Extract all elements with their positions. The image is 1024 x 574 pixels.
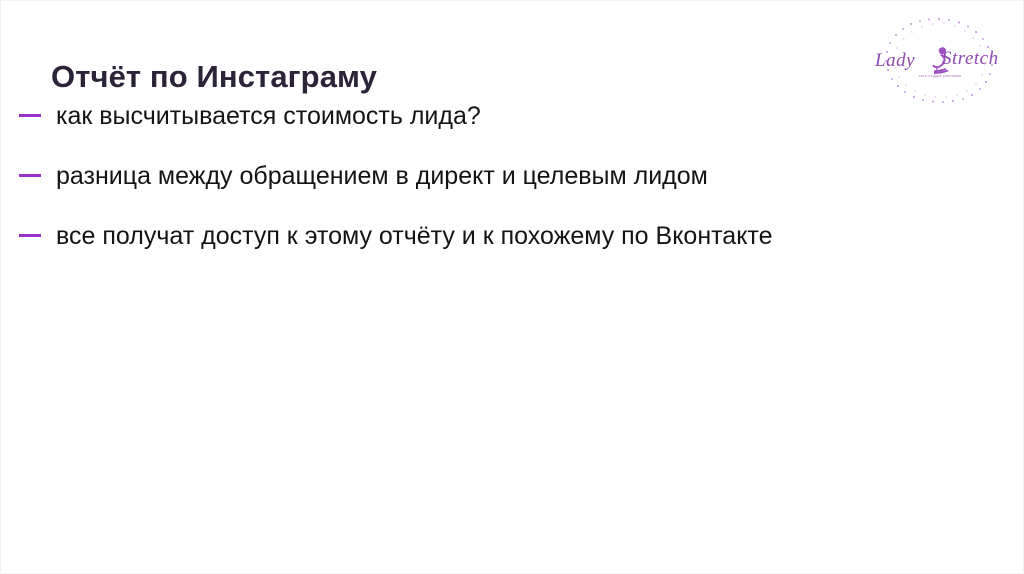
list-item-label: все получат доступ к этому отчёту и к по… [56, 221, 773, 251]
list-item: разница между обращением в директ и целе… [19, 161, 999, 191]
list-item: все получат доступ к этому отчёту и к по… [19, 221, 999, 251]
lady-stretch-logo: Lady Stretch сеть студий растяжки [867, 14, 1011, 106]
logo-tagline: сеть студий растяжки [897, 74, 983, 78]
em-dash-icon [19, 174, 41, 177]
list-item: как высчитывается стоимость лида? [19, 101, 999, 131]
logo-word-lady: Lady [875, 50, 915, 72]
list-item-label: как высчитывается стоимость лида? [56, 101, 481, 131]
list-item-label: разница между обращением в директ и целе… [56, 161, 708, 191]
bullet-list: как высчитывается стоимость лида? разниц… [19, 101, 999, 251]
logo-word-stretch: Stretch [942, 48, 999, 70]
page-title: Отчёт по Инстаграму [51, 59, 377, 95]
em-dash-icon [19, 234, 41, 237]
slide-canvas: Отчёт по Инстаграму как высчитывается ст… [0, 0, 1024, 574]
em-dash-icon [19, 114, 41, 117]
